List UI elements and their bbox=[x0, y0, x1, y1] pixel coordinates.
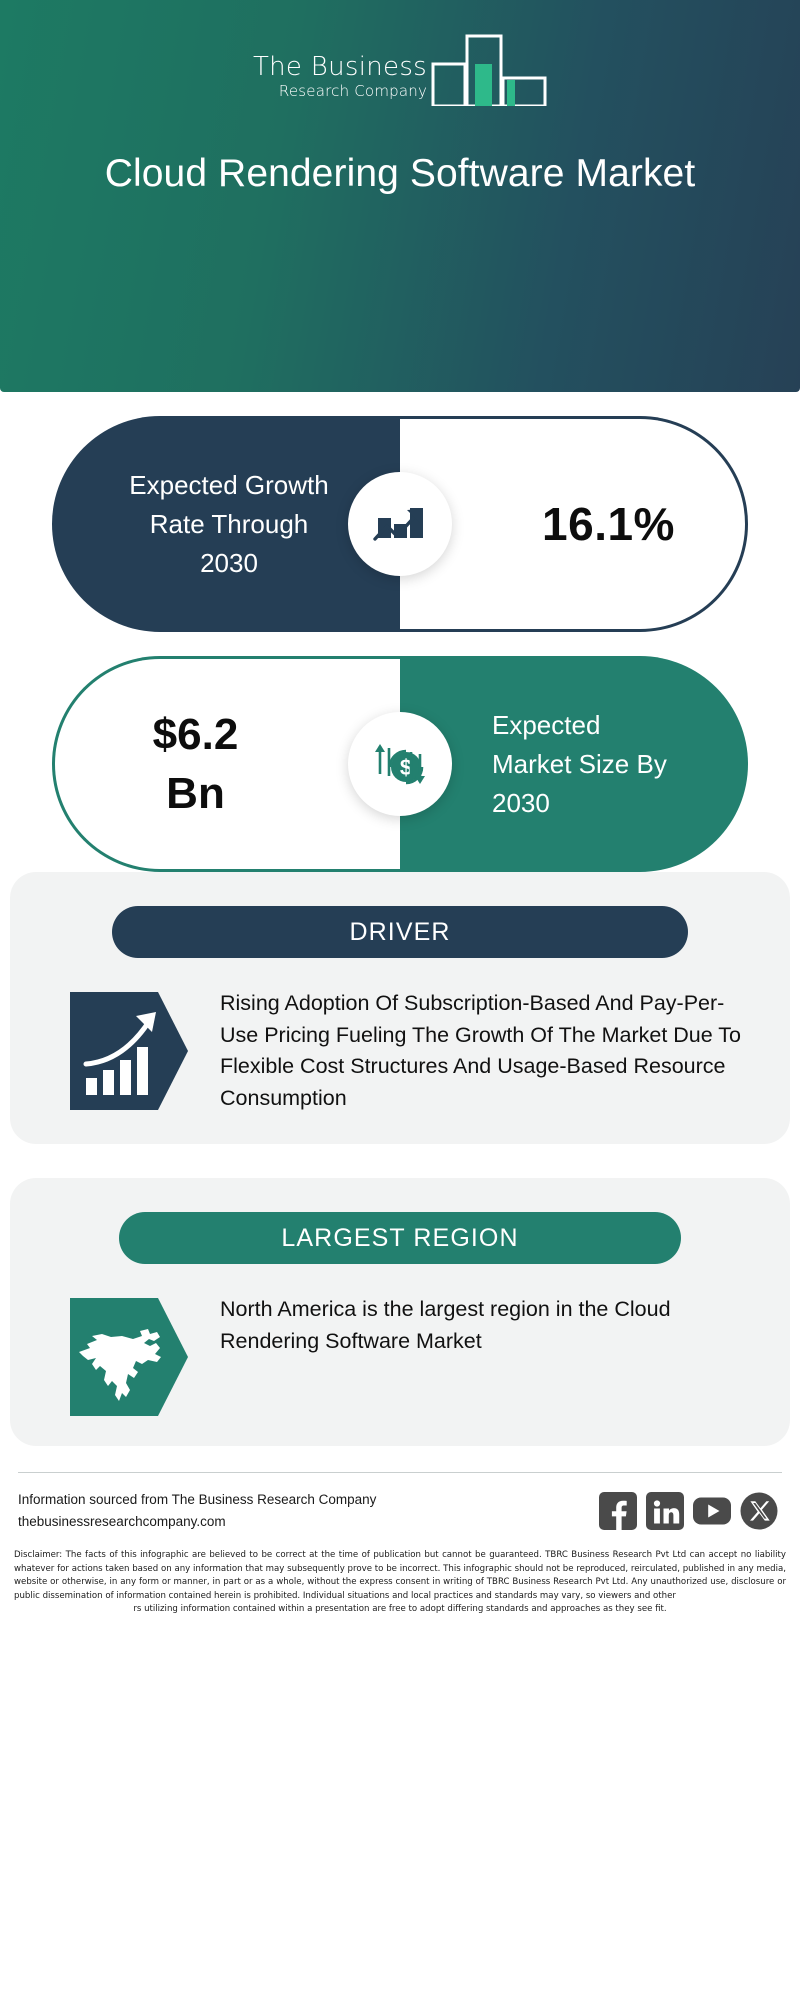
stat-label-panel: Expected Market Size By 2030 bbox=[400, 656, 748, 872]
bar-chart-logo-icon bbox=[431, 28, 547, 106]
stat-card-growth-rate: Expected Growth Rate Through 2030 16.1% bbox=[0, 392, 800, 632]
footer-website[interactable]: thebusinessresearchcompany.com bbox=[18, 1511, 376, 1533]
stat-value: $6.2 Bn bbox=[121, 705, 271, 824]
stat-label: Expected Market Size By 2030 bbox=[492, 706, 682, 823]
growth-chart-arrow-icon bbox=[369, 493, 431, 555]
stat-label: Expected Growth Rate Through 2030 bbox=[124, 466, 334, 583]
stat-value-line-2: Bn bbox=[121, 764, 271, 823]
driver-heading: DRIVER bbox=[112, 906, 688, 958]
company-logo: The Business Research Company bbox=[240, 26, 560, 106]
driver-icon-wrap bbox=[70, 992, 188, 1110]
page-title: Cloud Rendering Software Market bbox=[80, 148, 720, 200]
youtube-icon[interactable] bbox=[693, 1492, 731, 1530]
stat-value-line-1: $6.2 bbox=[121, 705, 271, 764]
stat-icon-badge: $ bbox=[348, 712, 452, 816]
region-text: North America is the largest region in t… bbox=[220, 1292, 756, 1416]
footer: Information sourced from The Business Re… bbox=[0, 1473, 800, 1533]
stat-value-panel: 16.1% bbox=[400, 416, 748, 632]
linkedin-icon[interactable]: ™ bbox=[646, 1492, 684, 1530]
largest-region-heading: LARGEST REGION bbox=[119, 1212, 681, 1264]
footer-source-line: Information sourced from The Business Re… bbox=[18, 1489, 376, 1511]
disclaimer-last-line: rs utilizing information contained withi… bbox=[14, 1603, 786, 1617]
social-links: ™ bbox=[599, 1492, 778, 1530]
disclaimer-body: Disclaimer: The facts of this infographi… bbox=[14, 1550, 786, 1601]
stat-icon-badge bbox=[348, 472, 452, 576]
driver-text: Rising Adoption Of Subscription-Based An… bbox=[220, 986, 756, 1114]
driver-panel: DRIVER Rising Adoption Of Subscription-B… bbox=[10, 872, 790, 1144]
largest-region-panel: LARGEST REGION North America is the larg… bbox=[10, 1178, 790, 1446]
dollar-circular-arrows-icon: $ bbox=[368, 732, 432, 796]
logo-line-1: The Business bbox=[253, 54, 427, 81]
stat-value: 16.1% bbox=[542, 497, 675, 551]
north-america-map-icon bbox=[70, 1298, 188, 1416]
stat-card-market-size: $6.2 Bn Expected Market Size By 2030 $ bbox=[0, 632, 800, 872]
disclaimer: Disclaimer: The facts of this infographi… bbox=[0, 1533, 800, 1617]
logo-line-2: Research Company bbox=[253, 82, 427, 100]
region-icon-wrap bbox=[70, 1298, 188, 1416]
hero-section: The Business Research Company Cloud Rend… bbox=[0, 0, 800, 392]
infographic-page: The Business Research Company Cloud Rend… bbox=[0, 0, 800, 2000]
growth-bars-arrow-icon bbox=[70, 992, 188, 1110]
logo-wordmark: The Business Research Company bbox=[253, 54, 431, 106]
footer-attribution: Information sourced from The Business Re… bbox=[18, 1489, 376, 1533]
facebook-icon[interactable] bbox=[599, 1492, 637, 1530]
x-twitter-icon[interactable] bbox=[740, 1492, 778, 1530]
svg-text:™: ™ bbox=[680, 1522, 685, 1527]
